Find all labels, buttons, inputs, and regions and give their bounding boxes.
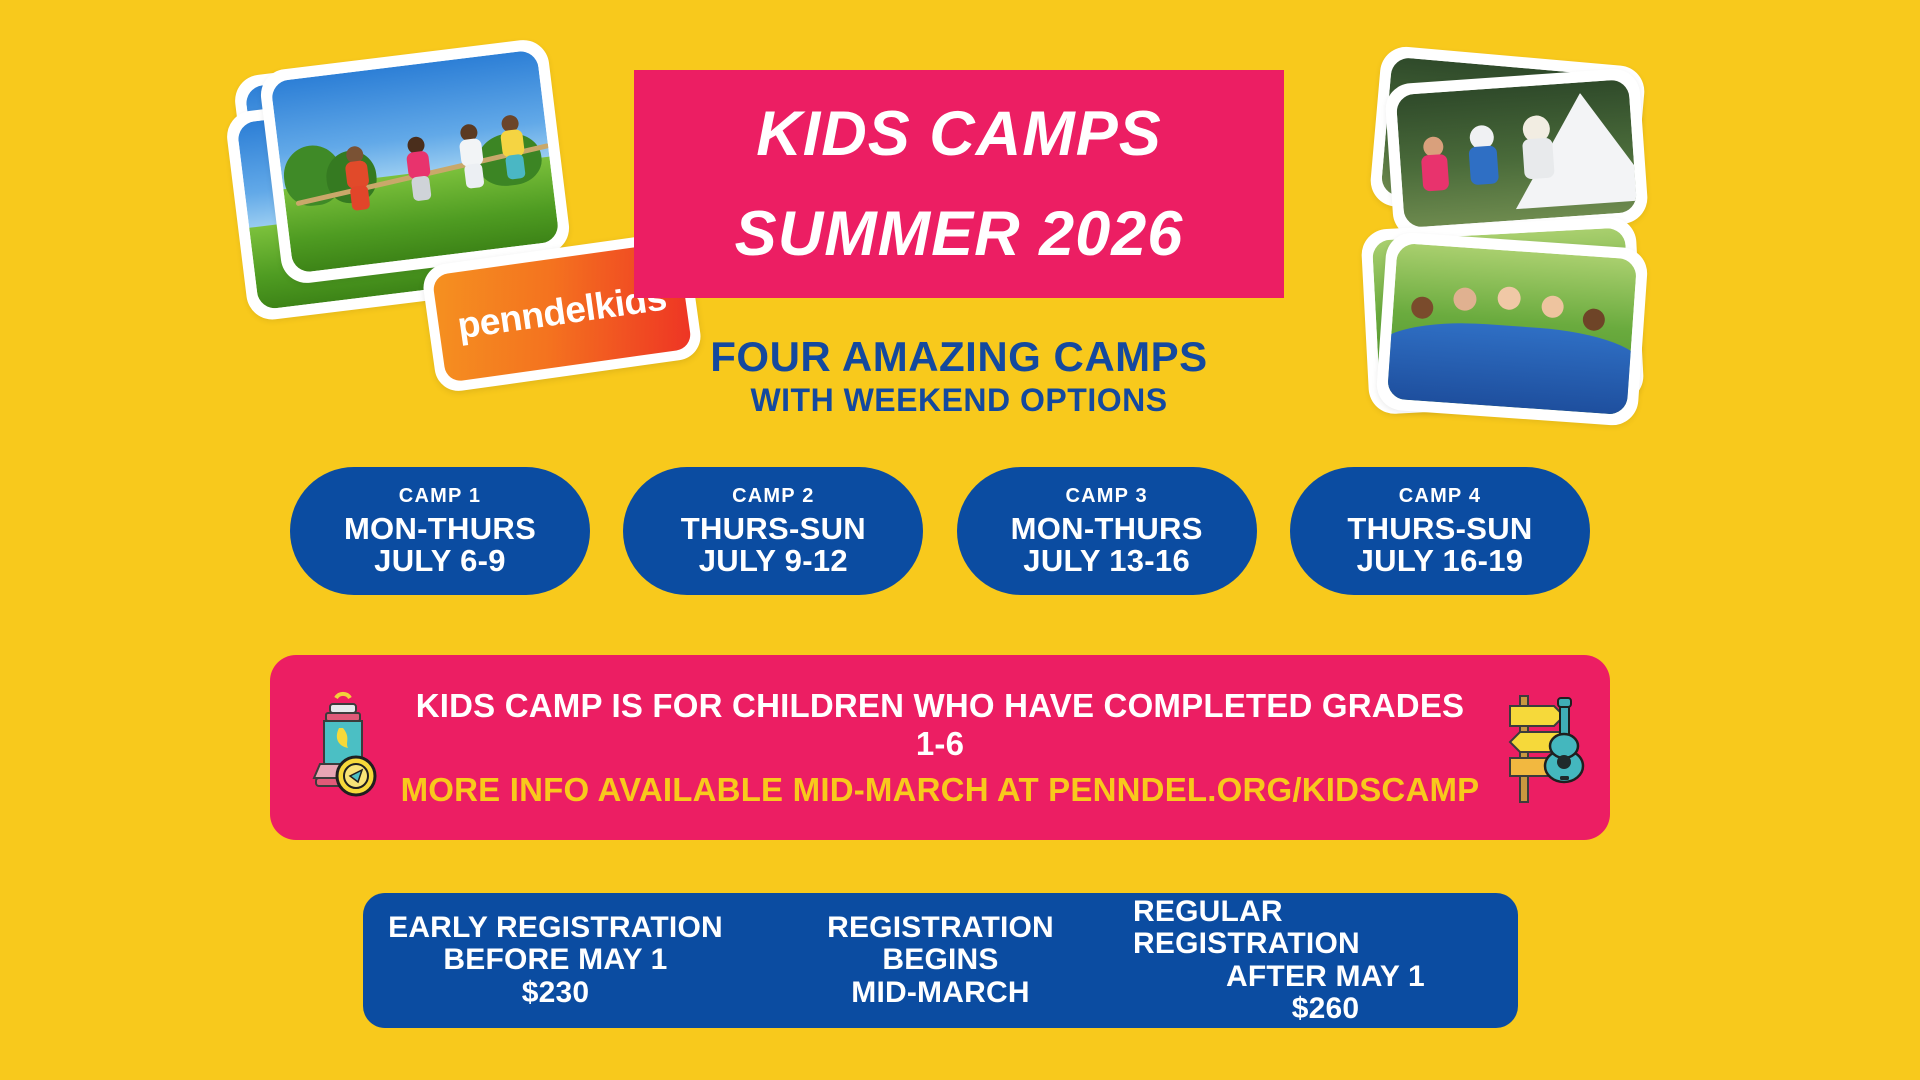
camp-dates-label: JULY 6-9	[374, 545, 506, 577]
registration-subtitle: AFTER MAY 1	[1226, 961, 1425, 993]
registration-column-begins: REGISTRATION BEGINS MID-MARCH	[748, 893, 1133, 1028]
child-figure	[1447, 287, 1481, 347]
registration-subtitle: BEFORE MAY 1	[443, 944, 667, 976]
child-figure	[1517, 114, 1558, 194]
info-line-2: MORE INFO AVAILABLE MID-MARCH AT PENNDEL…	[398, 771, 1482, 809]
registration-column-early: EARLY REGISTRATION BEFORE MAY 1 $230	[363, 893, 748, 1028]
camp-dates-label: JULY 9-12	[699, 545, 848, 577]
registration-subtitle: BEGINS	[882, 944, 998, 976]
right-photo-cluster	[1355, 48, 1675, 398]
camp-dates-label: JULY 16-19	[1357, 545, 1524, 577]
subtitle-line-2: WITH WEEKEND OPTIONS	[634, 382, 1284, 419]
child-figure	[1576, 308, 1610, 368]
torso	[1421, 154, 1449, 192]
head	[1497, 286, 1522, 311]
left-photo-cluster: penndelkids	[232, 48, 562, 398]
signpost-ukulele-icon	[1490, 688, 1586, 808]
torso	[345, 160, 370, 189]
kids-tug-of-war-photo	[258, 37, 572, 286]
camp-days-label: THURS-SUN	[681, 513, 866, 545]
camp-number-label: CAMP 4	[1399, 485, 1481, 508]
legs	[464, 163, 485, 189]
registration-column-regular: REGULAR REGISTRATION AFTER MAY 1 $260	[1133, 893, 1518, 1028]
camp-pill-row: CAMP 1 MON-THURS JULY 6-9 CAMP 2 THURS-S…	[290, 467, 1590, 595]
photo-inner	[270, 49, 560, 273]
camping-lantern-compass-icon	[294, 688, 390, 808]
subtitle-line-1: FOUR AMAZING CAMPS	[634, 333, 1284, 381]
camp-dates-label: JULY 13-16	[1023, 545, 1190, 577]
torso	[1468, 145, 1499, 185]
head	[1411, 296, 1434, 319]
child-figure	[1464, 124, 1503, 200]
child-figure	[1534, 295, 1568, 355]
camp-pill-3[interactable]: CAMP 3 MON-THURS JULY 13-16	[957, 467, 1257, 595]
head	[1582, 308, 1605, 331]
registration-bar: EARLY REGISTRATION BEFORE MAY 1 $230 REG…	[363, 893, 1518, 1028]
torso	[406, 150, 431, 179]
registration-price: $230	[522, 977, 590, 1009]
registration-date: MID-MARCH	[851, 977, 1029, 1009]
poster-canvas: penndelkids	[0, 0, 1920, 1080]
registration-title: REGULAR REGISTRATION	[1133, 896, 1518, 961]
camp-pill-4[interactable]: CAMP 4 THURS-SUN JULY 16-19	[1290, 467, 1590, 595]
torso	[500, 129, 525, 158]
camp-number-label: CAMP 2	[732, 485, 814, 508]
info-line-1: KIDS CAMP IS FOR CHILDREN WHO HAVE COMPL…	[398, 687, 1482, 763]
torso	[1522, 137, 1555, 179]
camp-days-label: THURS-SUN	[1347, 513, 1532, 545]
kids-under-blanket-outdoors-photo	[1375, 231, 1649, 427]
torso	[459, 138, 484, 167]
legs	[350, 185, 371, 211]
info-banner: KIDS CAMP IS FOR CHILDREN WHO HAVE COMPL…	[270, 655, 1610, 840]
title-line-1: KIDS CAMPS	[634, 98, 1284, 170]
camp-number-label: CAMP 3	[1065, 485, 1147, 508]
child-figure	[1491, 286, 1525, 346]
head	[1541, 295, 1564, 318]
camp-number-label: CAMP 1	[399, 485, 481, 508]
child-figure	[1417, 136, 1454, 208]
legs	[505, 154, 526, 180]
child-figure	[1404, 296, 1438, 356]
registration-price: $260	[1292, 993, 1360, 1025]
camp-pill-2[interactable]: CAMP 2 THURS-SUN JULY 9-12	[623, 467, 923, 595]
legs	[411, 175, 432, 201]
kids-in-tent-reading-photo	[1384, 67, 1649, 239]
title-line-2: SUMMER 2026	[634, 198, 1284, 270]
registration-title: EARLY REGISTRATION	[388, 912, 723, 944]
camp-pill-1[interactable]: CAMP 1 MON-THURS JULY 6-9	[290, 467, 590, 595]
camp-days-label: MON-THURS	[344, 513, 536, 545]
head	[1453, 287, 1478, 312]
registration-title: REGISTRATION	[827, 912, 1054, 944]
photo-inner	[1387, 243, 1637, 415]
photo-inner	[1396, 79, 1638, 228]
info-text-block: KIDS CAMP IS FOR CHILDREN WHO HAVE COMPL…	[390, 687, 1490, 809]
title-banner: KIDS CAMPS SUMMER 2026	[634, 70, 1284, 298]
camp-days-label: MON-THURS	[1011, 513, 1203, 545]
